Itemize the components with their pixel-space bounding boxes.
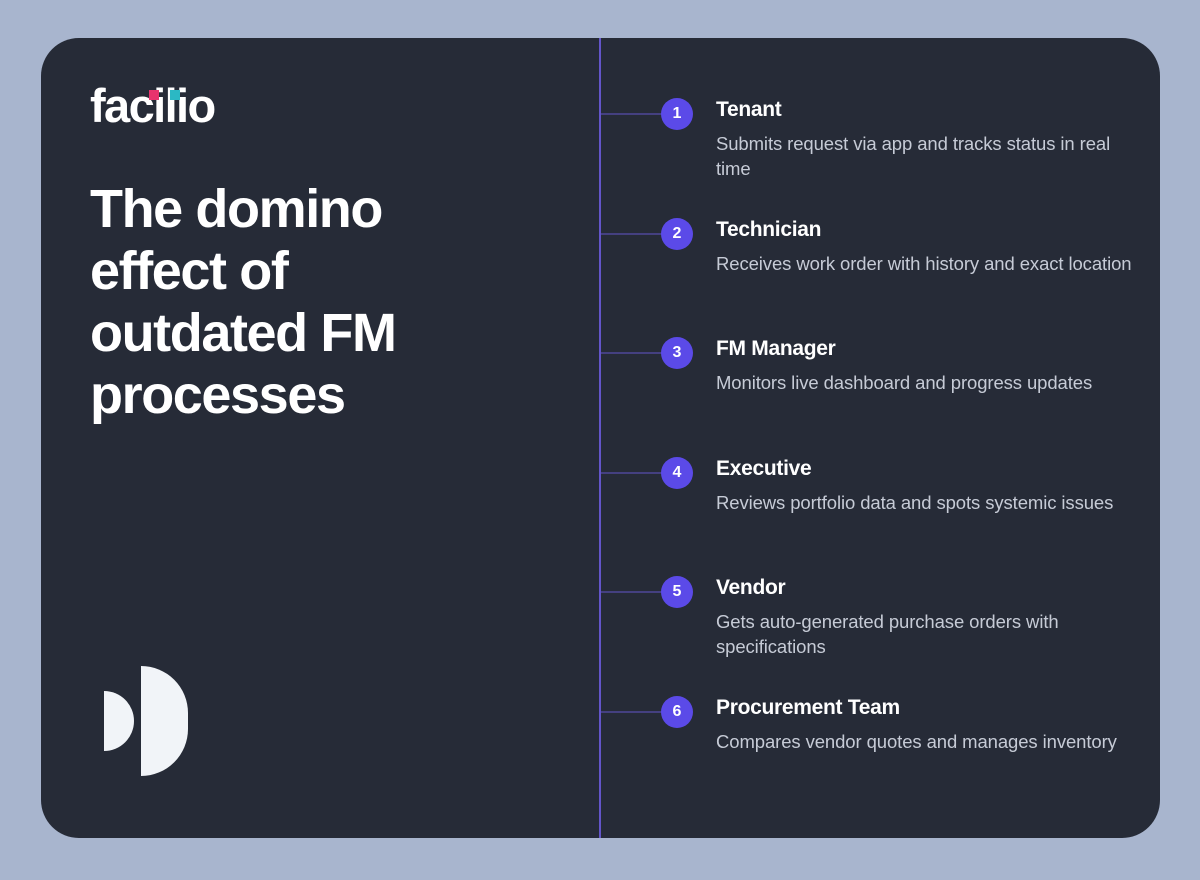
step-connector-line xyxy=(601,353,663,354)
facilio-d-mark-icon xyxy=(104,666,188,776)
step-description: Receives work order with history and exa… xyxy=(716,251,1136,276)
step-number-badge: 3 xyxy=(661,337,693,369)
logo-dot-pink-icon xyxy=(149,90,159,100)
step-description: Compares vendor quotes and manages inven… xyxy=(716,729,1136,754)
step-connector-line xyxy=(601,711,663,712)
brand-logo: facilio xyxy=(90,78,215,134)
step-number-badge: 5 xyxy=(661,576,693,608)
step-description: Gets auto-generated purchase orders with… xyxy=(716,609,1136,659)
step-body: ExecutiveReviews portfolio data and spot… xyxy=(716,455,1136,515)
step-connector-line xyxy=(601,472,663,473)
step-number-badge: 2 xyxy=(661,218,693,250)
step-body: TechnicianReceives work order with histo… xyxy=(716,216,1136,276)
step-body: Procurement TeamCompares vendor quotes a… xyxy=(716,694,1136,754)
page-title: The domino effect of outdated FM process… xyxy=(90,178,510,426)
mark-half-small xyxy=(104,691,134,751)
timeline: 1TenantSubmits request via app and track… xyxy=(599,38,1160,838)
step-title: FM Manager xyxy=(716,335,1136,363)
mark-half-large xyxy=(141,666,188,776)
step-connector-line xyxy=(601,233,663,234)
step-description: Submits request via app and tracks statu… xyxy=(716,131,1136,181)
left-column: facilio The domino effect of outdated FM… xyxy=(90,38,600,838)
content-card: facilio The domino effect of outdated FM… xyxy=(41,38,1160,838)
slide-canvas: facilio The domino effect of outdated FM… xyxy=(0,0,1200,880)
step-connector-line xyxy=(601,114,663,115)
step-body: FM ManagerMonitors live dashboard and pr… xyxy=(716,335,1136,395)
step-title: Tenant xyxy=(716,96,1136,124)
timeline-step-list: 1TenantSubmits request via app and track… xyxy=(599,38,1160,838)
step-number-badge: 4 xyxy=(661,457,693,489)
step-description: Monitors live dashboard and progress upd… xyxy=(716,370,1136,395)
step-description: Reviews portfolio data and spots systemi… xyxy=(716,490,1136,515)
brand-wordmark: facilio xyxy=(90,78,215,134)
step-title: Technician xyxy=(716,216,1136,244)
step-connector-line xyxy=(601,592,663,593)
step-body: VendorGets auto-generated purchase order… xyxy=(716,574,1136,659)
step-number-badge: 1 xyxy=(661,98,693,130)
step-title: Executive xyxy=(716,455,1136,483)
step-number-badge: 6 xyxy=(661,696,693,728)
logo-dot-teal-icon xyxy=(170,90,180,100)
step-title: Vendor xyxy=(716,574,1136,602)
step-body: TenantSubmits request via app and tracks… xyxy=(716,96,1136,181)
step-title: Procurement Team xyxy=(716,694,1136,722)
